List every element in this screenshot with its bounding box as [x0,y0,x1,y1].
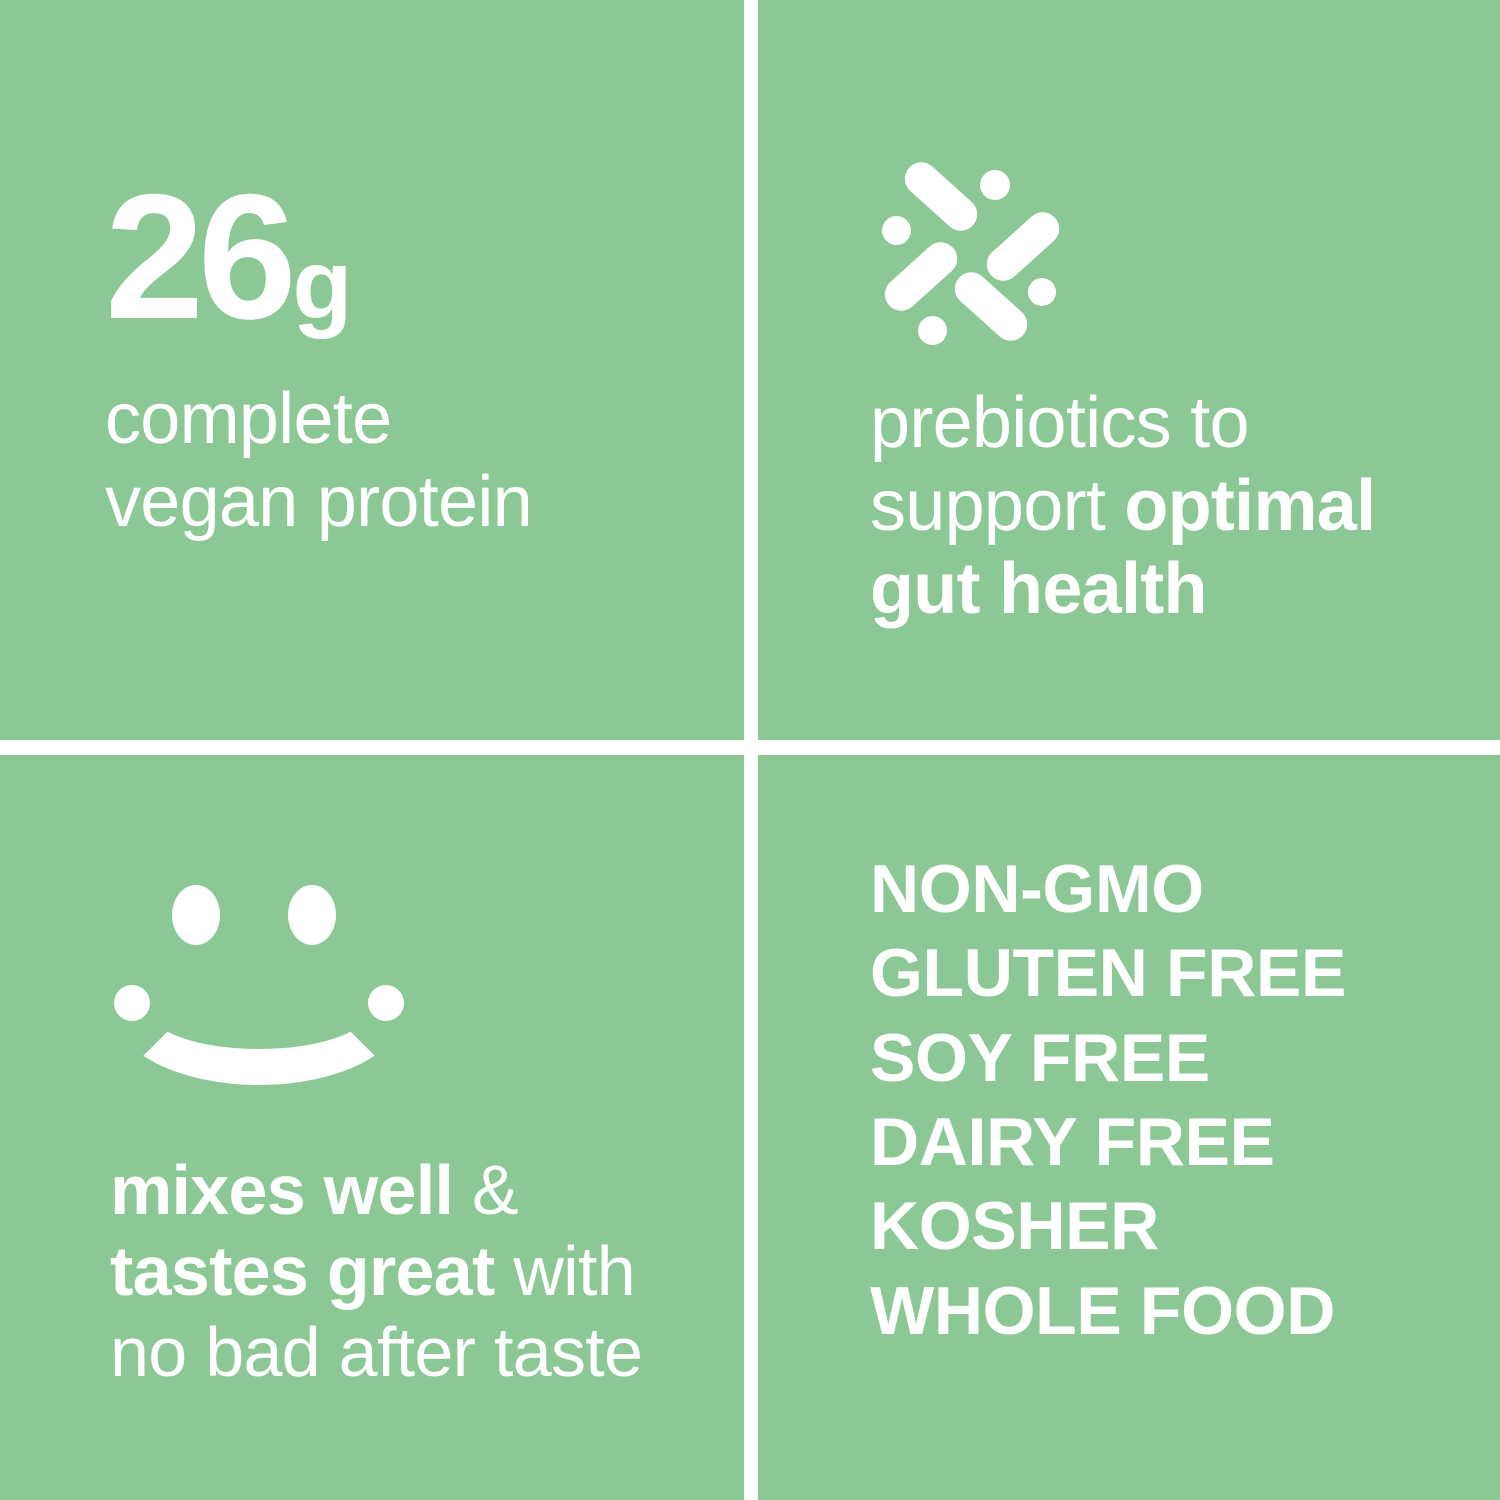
protein-stat-unit: g [293,235,351,333]
smiley-face-icon [110,885,410,1065]
protein-stat: 26 g [105,168,350,346]
panel-certifications: NON-GMO GLUTEN FREE SOY FREE DAIRY FREE … [758,755,1500,1500]
taste-caption-emphasis-1: mixes well [110,1151,453,1229]
smiley-mouth-cap-left-icon [114,985,150,1021]
certification-item: KOSHER [870,1184,1470,1268]
panel-prebiotics: prebiotics tosupport optimalgut health [758,0,1500,740]
smiley-eye-left-icon [172,885,220,945]
taste-caption: mixes well &tastes great withno bad afte… [110,1150,720,1394]
certification-item: WHOLE FOOD [870,1269,1470,1353]
bacteria-dot-icon [918,316,947,345]
taste-caption-emphasis-2: tastes great [110,1232,495,1310]
smiley-mouth-cap-right-icon [368,985,404,1021]
prebiotics-caption-line-2-regular: support [870,466,1124,546]
bacteria-rod-icon [898,155,984,237]
prebiotics-caption: prebiotics tosupport optimalgut health [870,382,1470,630]
bacteria-rod-icon [878,235,964,317]
panel-taste: mixes well &tastes great withno bad afte… [0,755,744,1500]
smiley-mouth-icon [114,937,404,1085]
taste-caption-regular-1: & [453,1151,518,1229]
taste-caption-regular-3: no bad after taste [110,1313,642,1391]
protein-stat-number: 26 [105,168,291,346]
prebiotics-caption-line-1: prebiotics to [870,383,1249,463]
certification-item: SOY FREE [870,1016,1470,1100]
taste-caption-regular-2: with [495,1232,635,1310]
certification-item: GLUTEN FREE [870,931,1470,1015]
bacteria-rod-icon [980,205,1066,287]
certification-item: DAIRY FREE [870,1100,1470,1184]
smiley-eye-right-icon [288,885,336,945]
bacteria-dot-icon [882,216,911,245]
bacteria-dot-icon [1028,278,1056,306]
bacteria-prebiotic-icon [876,168,1061,348]
protein-caption: complete vegan protein [105,378,705,544]
bacteria-rod-icon [948,265,1034,347]
certification-list: NON-GMO GLUTEN FREE SOY FREE DAIRY FREE … [870,847,1470,1353]
protein-caption-line-1: complete [105,379,391,459]
product-benefits-infographic: 26 g complete vegan protein prebiotics t… [0,0,1500,1500]
panel-protein: 26 g complete vegan protein [0,0,744,740]
prebiotics-caption-emphasis-1: optimal [1124,466,1375,546]
certification-item: NON-GMO [870,847,1470,931]
prebiotics-caption-emphasis-2: gut health [870,549,1207,629]
protein-caption-line-2: vegan protein [105,462,532,542]
bacteria-dot-icon [980,170,1010,200]
